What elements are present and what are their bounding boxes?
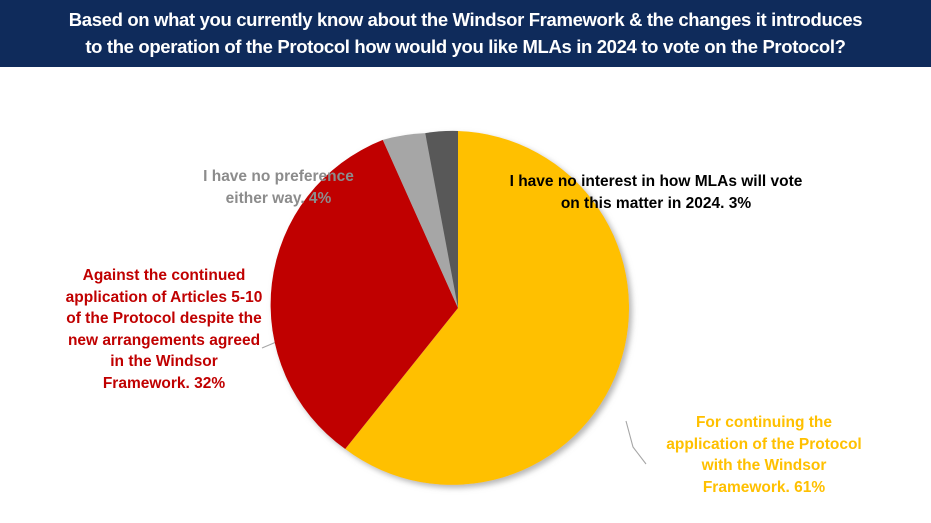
chart-title-line-2: to the operation of the Protocol how wou… xyxy=(85,33,845,60)
leader-line-for-continuing xyxy=(626,421,646,464)
chart-title-line-1: Based on what you currently know about t… xyxy=(69,6,862,33)
pie-label-against-continued: Against the continued application of Art… xyxy=(40,265,288,394)
pie-label-no-interest: I have no interest in how MLAs will vote… xyxy=(466,171,846,215)
pie-label-no-preference: I have no preference either way. 4% xyxy=(176,166,381,210)
pie-label-for-continuing: For continuing the application of the Pr… xyxy=(645,412,883,498)
chart-plot-area: Against the continued application of Art… xyxy=(0,67,931,523)
chart-title-banner: Based on what you currently know about t… xyxy=(0,0,931,67)
